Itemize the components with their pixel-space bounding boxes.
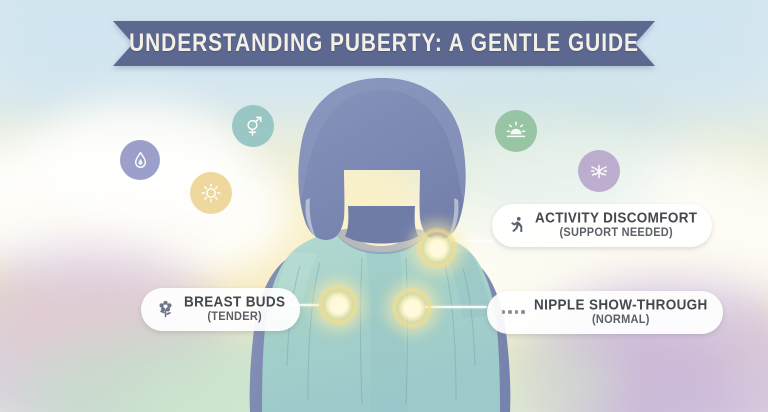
activity-discomfort-label[interactable]: ACTIVITY DISCOMFORT (SUPPORT NEEDED): [492, 204, 712, 247]
marker-right-chest: [390, 286, 434, 330]
title-banner: UNDERSTANDING PUBERTY: A GENTLE GUIDE: [113, 21, 655, 66]
sunrise-badge: [495, 110, 537, 152]
activity-discomfort-title: ACTIVITY DISCOMFORT: [535, 210, 697, 225]
breast-buds-title: BREAST BUDS: [184, 294, 285, 309]
nipple-show-through-title: NIPPLE SHOW-THROUGH: [534, 297, 708, 312]
flower-icon: [154, 298, 176, 320]
gender-icon: [241, 114, 265, 138]
nipple-show-through-label[interactable]: NIPPLE SHOW-THROUGH (NORMAL): [487, 291, 723, 334]
activity-discomfort-subtitle: (SUPPORT NEEDED): [560, 228, 673, 240]
marker-left-chest: [316, 283, 360, 327]
activity-discomfort-text: ACTIVITY DISCOMFORT (SUPPORT NEEDED): [535, 211, 697, 239]
sparkle-icon: [587, 159, 611, 183]
droplet-flame-badge: [120, 140, 160, 180]
sun-icon: [199, 181, 223, 205]
dots-icon: [500, 301, 526, 323]
running-person-icon: [505, 214, 527, 236]
infographic-canvas: UNDERSTANDING PUBERTY: A GENTLE GUIDE: [0, 0, 768, 412]
sparkle-badge: [578, 150, 620, 192]
breast-buds-subtitle: (TENDER): [207, 312, 262, 324]
sunrise-icon: [504, 119, 528, 143]
page-title: UNDERSTANDING PUBERTY: A GENTLE GUIDE: [121, 17, 647, 69]
nipple-show-through-text: NIPPLE SHOW-THROUGH (NORMAL): [534, 298, 708, 326]
sun-badge: [190, 172, 232, 214]
connector-nipple: [425, 306, 487, 308]
flame-icon: [130, 150, 151, 171]
breast-buds-text: BREAST BUDS (TENDER): [184, 295, 285, 323]
nipple-show-through-subtitle: (NORMAL): [592, 315, 650, 327]
breast-buds-label[interactable]: BREAST BUDS (TENDER): [141, 288, 300, 331]
gender-badge: [232, 105, 274, 147]
marker-shoulder: [415, 226, 459, 270]
